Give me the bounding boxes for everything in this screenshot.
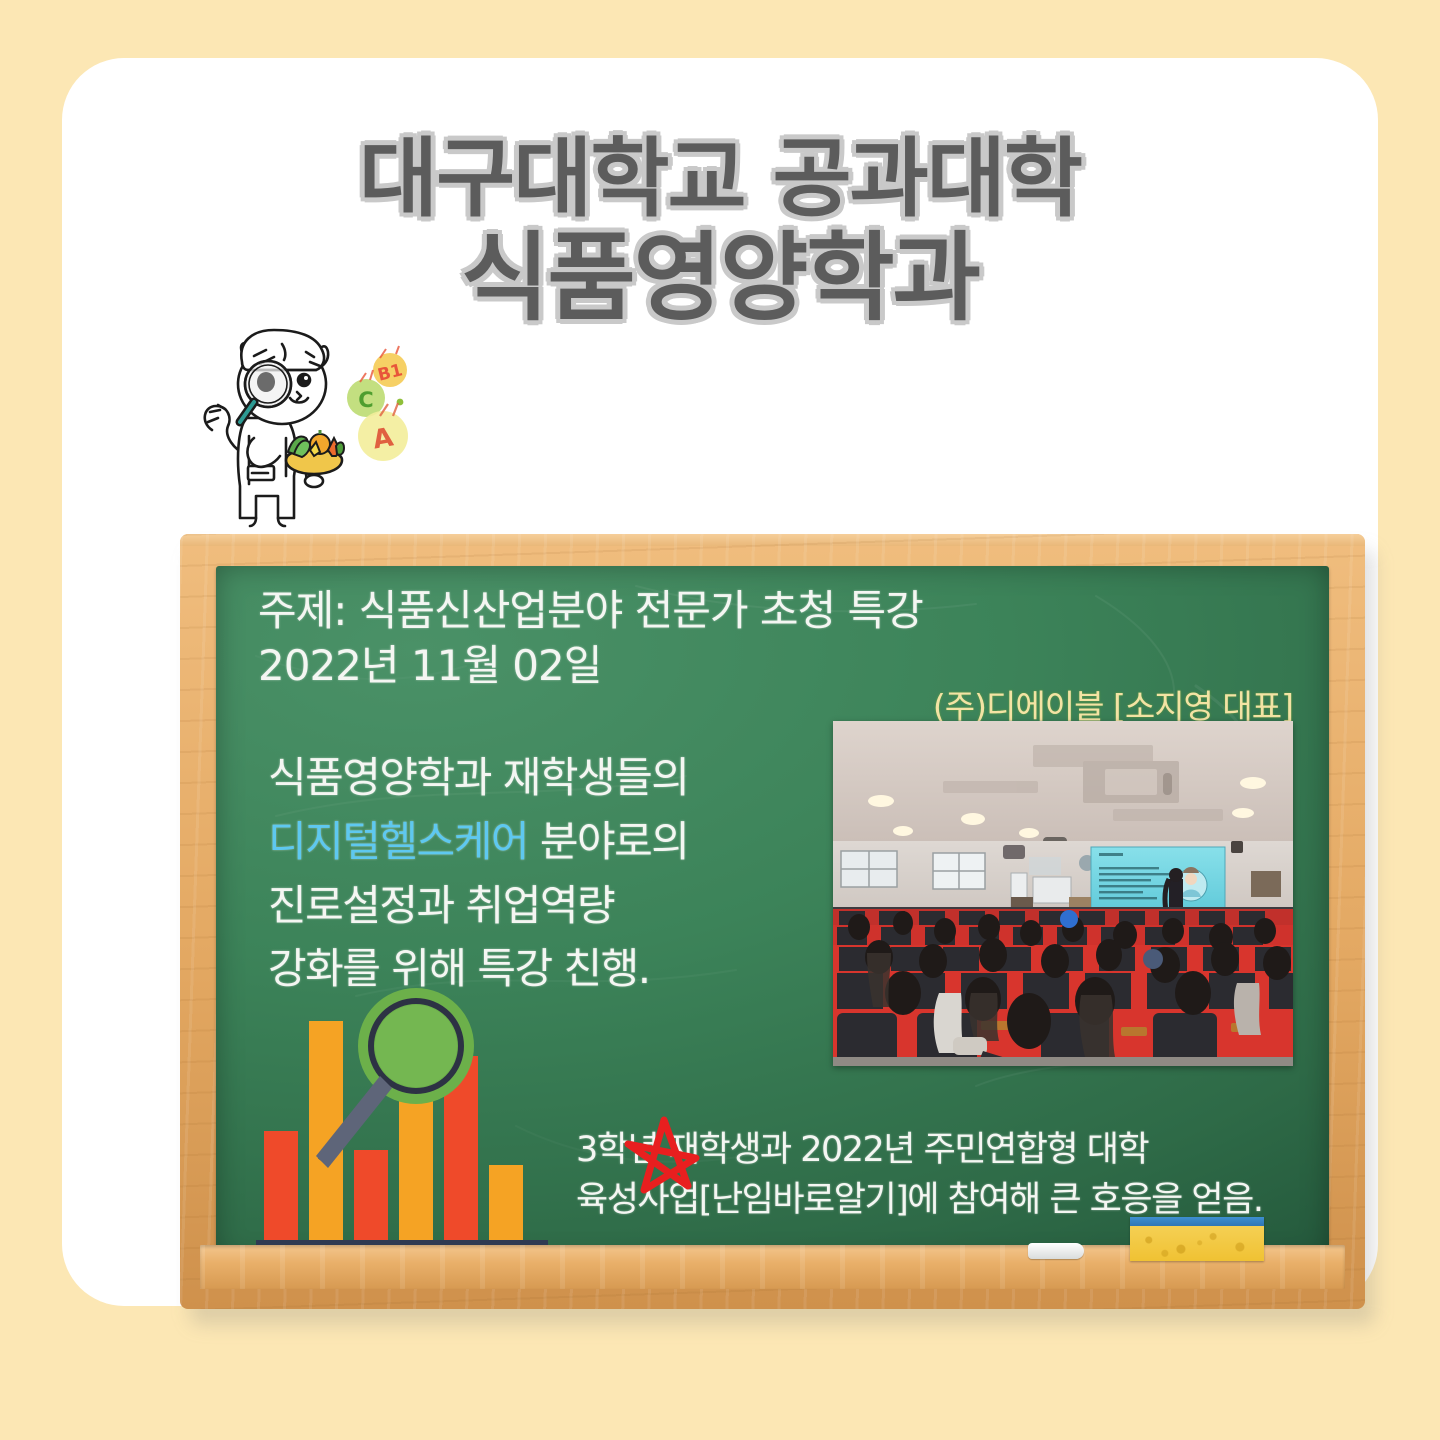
bar-chart-graphic xyxy=(256,988,586,1253)
board-topic-line-1: 주제: 식품신산업분야 전문가 초청 특강 xyxy=(258,584,923,639)
board-body-text: 식품영양학과 재학생들의 디지털헬스케어 분야로의 진로설정과 취업역량 강화를… xyxy=(268,746,688,1001)
board-topic: 주제: 식품신산업분야 전문가 초청 특강 2022년 11월 02일 xyxy=(258,584,923,693)
page-title: 대구대학교 공과대학 식품영양학과 xyxy=(62,136,1378,328)
title-line-2: 식품영양학과 xyxy=(62,230,1378,328)
svg-text:C: C xyxy=(358,388,373,412)
red-star-mark xyxy=(614,1106,710,1202)
lecture-hall-photo xyxy=(833,721,1293,1066)
board-body-line-3: 진로설정과 취업역량 xyxy=(268,874,688,938)
board-body-line-2: 디지털헬스케어 분야로의 xyxy=(268,810,688,874)
chalk-stick xyxy=(1028,1243,1084,1259)
sponge-eraser xyxy=(1130,1217,1264,1261)
tiger-mascot-icon: B1 C A xyxy=(194,326,434,541)
chalkboard: 주제: 식품신산업분야 전문가 초청 특강 2022년 11월 02일 (주)디… xyxy=(180,534,1365,1309)
poster-card: 대구대학교 공과대학 식품영양학과 xyxy=(62,58,1378,1306)
board-body-line-2-rest: 분야로의 xyxy=(528,817,688,866)
title-line-1: 대구대학교 공과대학 xyxy=(62,136,1378,224)
board-body-line-1: 식품영양학과 재학생들의 xyxy=(268,746,688,810)
chalkboard-frame-highlight xyxy=(180,534,1365,546)
chalkboard-surface: 주제: 식품신산업분야 전문가 초청 특강 2022년 11월 02일 (주)디… xyxy=(216,566,1329,1261)
highlight-keyword: 디지털헬스케어 xyxy=(268,817,528,866)
board-topic-line-2: 2022년 11월 02일 xyxy=(258,639,923,694)
